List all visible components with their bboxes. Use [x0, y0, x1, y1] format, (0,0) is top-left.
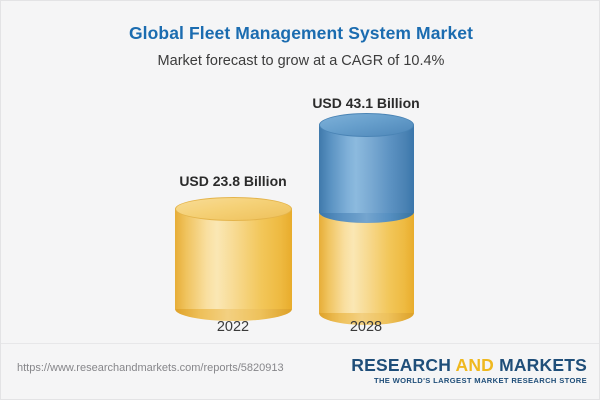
bar-body-upper-overlay-2028	[319, 125, 414, 213]
plot-area: USD 23.8 Billion 2022 USD 43.1 Billion	[1, 1, 600, 346]
bar-category-label-2028: 2028	[266, 319, 466, 335]
report-url[interactable]: https://www.researchandmarkets.com/repor…	[17, 362, 284, 374]
logo-word-research: RESEARCH	[351, 355, 451, 375]
bar-body-lower-overlay-2028	[319, 213, 414, 313]
bar-value-label-2022: USD 23.8 Billion	[133, 173, 333, 189]
bar-cap-2028	[319, 113, 414, 137]
bar-cap-2022	[175, 197, 292, 221]
logo-word-markets: MARKETS	[499, 355, 587, 375]
chart-card: Global Fleet Management System Market Ma…	[0, 0, 600, 400]
logo-wordmark: RESEARCH AND MARKETS	[351, 356, 587, 374]
bar-body-overlay-2022	[175, 209, 292, 309]
footer: https://www.researchandmarkets.com/repor…	[1, 343, 600, 399]
research-and-markets-logo[interactable]: RESEARCH AND MARKETS THE WORLD'S LARGEST…	[351, 356, 587, 385]
logo-tagline: THE WORLD'S LARGEST MARKET RESEARCH STOR…	[351, 376, 587, 385]
logo-word-and: AND	[455, 355, 494, 375]
bar-cylinder-2028[interactable]	[319, 113, 414, 315]
bar-value-label-2028: USD 43.1 Billion	[266, 95, 466, 111]
bar-cylinder-2022[interactable]	[175, 197, 292, 315]
